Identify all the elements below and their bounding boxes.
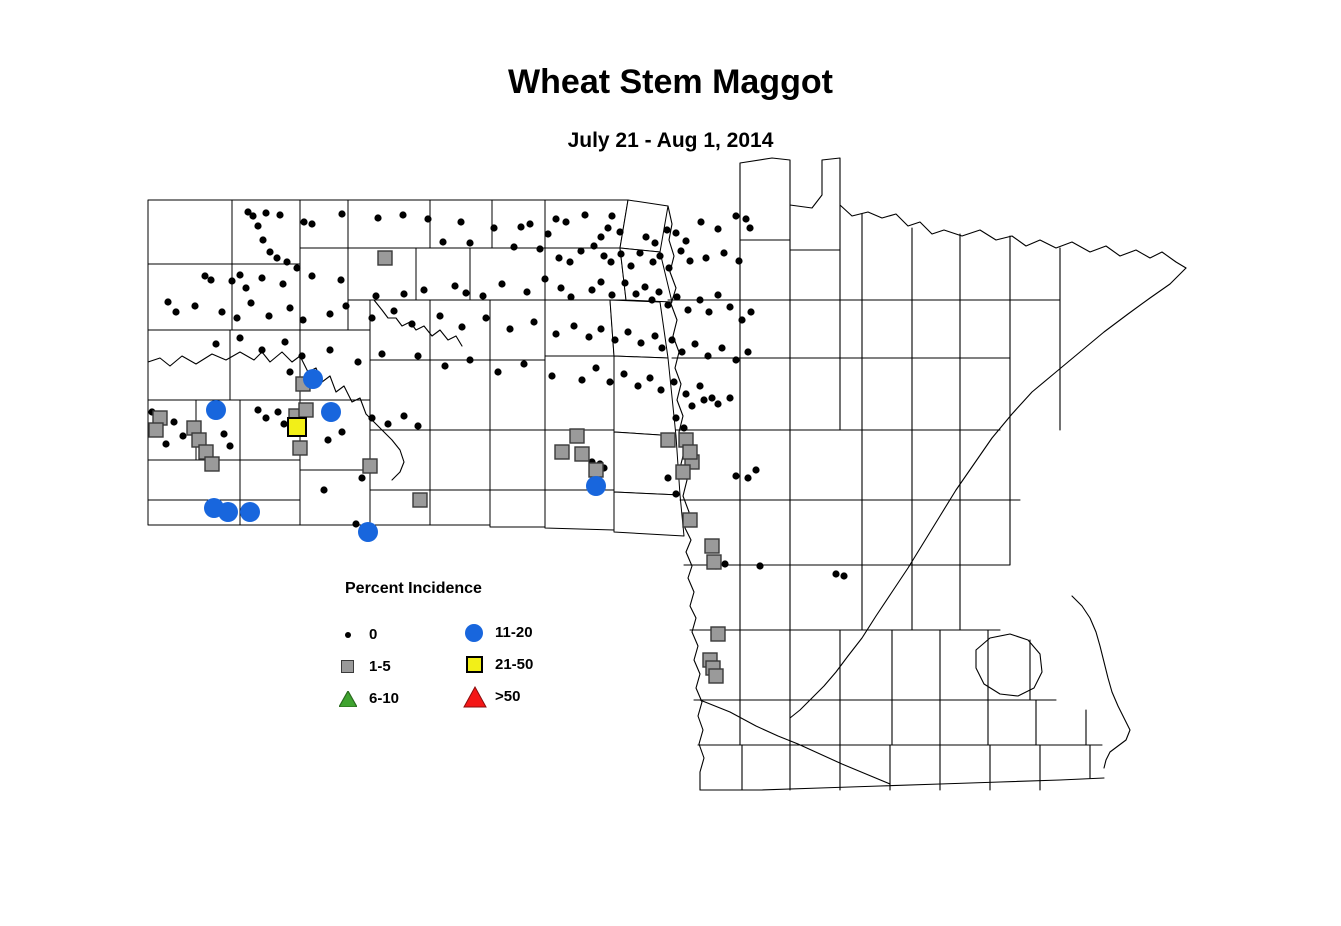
map-symbol-dot-0	[697, 218, 704, 225]
map-symbol-dot-0	[439, 238, 446, 245]
map-symbol-dot-0	[744, 474, 751, 481]
map-symbol-dot-0	[536, 245, 543, 252]
map-symbol-dot-0	[338, 428, 345, 435]
map-symbol-dot-0	[368, 414, 375, 421]
map-symbol-dot-0	[247, 299, 254, 306]
map-symbol-square-1-5	[378, 251, 392, 265]
map-symbol-dot-0	[673, 293, 680, 300]
map-symbol-dot-0	[283, 258, 290, 265]
map-symbol-dot-0	[557, 284, 564, 291]
map-symbol-dot-0	[726, 303, 733, 310]
map-symbol-dot-0	[298, 352, 305, 359]
map-symbol-dot-0	[281, 338, 288, 345]
map-symbol-dot-0	[399, 211, 406, 218]
map-symbol-square-1-5	[661, 433, 675, 447]
map-symbol-dot-0	[457, 218, 464, 225]
map-symbol-square-1-5	[299, 403, 313, 417]
map-symbol-dot-0	[368, 314, 375, 321]
map-symbol-dot-0	[320, 486, 327, 493]
map-symbol-dot-0	[581, 211, 588, 218]
map-symbol-dot-0	[665, 264, 672, 271]
map-symbol-square-1-5	[676, 465, 690, 479]
map-symbol-dot-0	[526, 220, 533, 227]
minnesota-river-line	[700, 700, 890, 784]
map-symbol-dot-0	[254, 222, 261, 229]
map-symbol-circle-11-20	[358, 522, 378, 542]
map-symbol-dot-0	[611, 336, 618, 343]
map-symbol-dot-0	[721, 560, 728, 567]
map-symbol-dot-0	[651, 239, 658, 246]
map-symbol-dot-0	[688, 402, 695, 409]
map-symbol-square-1-5	[555, 445, 569, 459]
map-symbol-dot-0	[608, 291, 615, 298]
map-symbol-dot-0	[604, 224, 611, 231]
map-symbol-dot-0	[597, 278, 604, 285]
map-symbol-dot-0	[408, 320, 415, 327]
map-symbol-dot-0	[414, 422, 421, 429]
map-symbol-dot-0	[718, 344, 725, 351]
map-symbol-dot-0	[249, 212, 256, 219]
map-symbol-dot-0	[691, 340, 698, 347]
map-symbol-dot-0	[162, 440, 169, 447]
map-symbol-dot-0	[555, 254, 562, 261]
map-symbol-dot-0	[170, 418, 177, 425]
map-symbol-dot-0	[451, 282, 458, 289]
map-symbol-dot-0	[684, 306, 691, 313]
map-symbol-dot-0	[462, 289, 469, 296]
map-symbol-dot-0	[704, 352, 711, 359]
map-symbol-dot-0	[510, 243, 517, 250]
map-symbol-dot-0	[686, 257, 693, 264]
map-symbol-dot-0	[672, 490, 679, 497]
map-symbol-dot-0	[714, 291, 721, 298]
map-symbol-dot-0	[680, 424, 687, 431]
map-symbol-dot-0	[354, 358, 361, 365]
map-symbol-dot-0	[400, 290, 407, 297]
legend-label-1-5: 1-5	[369, 658, 391, 675]
map-symbol-dot-0	[466, 356, 473, 363]
map-symbol-square-1-5	[205, 457, 219, 471]
map-page: Wheat Stem Maggot July 21 - Aug 1, 2014	[0, 0, 1341, 926]
map-symbol-ysquare-21-50	[288, 418, 306, 436]
map-symbol-dot-0	[714, 225, 721, 232]
map-symbol-dot-0	[266, 248, 273, 255]
map-symbol-dot-0	[840, 572, 847, 579]
map-symbol-dot-0	[696, 382, 703, 389]
map-symbol-dot-0	[286, 368, 293, 375]
legend-label-11-20: 11-20	[495, 624, 533, 641]
map-symbol-dot-0	[280, 420, 287, 427]
map-symbol-dot-0	[179, 432, 186, 439]
mn-county-lines-row8	[698, 700, 1102, 745]
map-symbol-dot-0	[300, 218, 307, 225]
map-symbol-dot-0	[664, 474, 671, 481]
map-symbol-square-1-5	[589, 463, 603, 477]
map-symbol-dot-0	[646, 374, 653, 381]
map-symbol-square-1-5	[683, 445, 697, 459]
map-symbol-dot-0	[378, 350, 385, 357]
map-symbol-dot-0	[655, 288, 662, 295]
red-triangle-icon	[463, 686, 487, 708]
map-symbol-dot-0	[436, 312, 443, 319]
map-symbol-dot-0	[624, 328, 631, 335]
legend-label-0: 0	[369, 626, 377, 643]
map-symbol-dot-0	[658, 344, 665, 351]
map-symbol-dot-0	[259, 236, 266, 243]
map-symbol-square-1-5	[570, 429, 584, 443]
mn-county-lines-row2	[672, 300, 1060, 430]
map-symbol-dot-0	[242, 284, 249, 291]
map-symbol-dot-0	[746, 224, 753, 231]
map-symbol-dot-0	[832, 570, 839, 577]
map-symbol-dot-0	[498, 280, 505, 287]
map-symbol-dot-0	[616, 228, 623, 235]
map-symbol-dot-0	[678, 348, 685, 355]
map-symbol-dot-0	[592, 364, 599, 371]
map-symbol-dot-0	[258, 346, 265, 353]
map-symbol-dot-0	[420, 286, 427, 293]
map-symbol-dot-0	[585, 333, 592, 340]
map-symbol-dot-0	[636, 249, 643, 256]
map-symbol-dot-0	[714, 400, 721, 407]
mn-county-lines-row4	[680, 430, 1020, 500]
map-symbol-square-1-5	[707, 555, 721, 569]
mn-county-lines-row5	[684, 500, 1010, 565]
map-symbol-circle-11-20	[206, 400, 226, 420]
map-symbol-dot-0	[735, 257, 742, 264]
map-symbol-dot-0	[700, 396, 707, 403]
map-symbol-dot-0	[738, 316, 745, 323]
map-symbol-square-1-5	[711, 627, 725, 641]
northwest-angle	[740, 158, 1186, 268]
map-symbol-dot-0	[191, 302, 198, 309]
map-symbol-dot-0	[172, 308, 179, 315]
map-symbol-dot-0	[634, 382, 641, 389]
map-symbol-dot-0	[726, 394, 733, 401]
map-symbol-dot-0	[293, 264, 300, 271]
map-symbol-dot-0	[732, 356, 739, 363]
map-symbol-dot-0	[236, 334, 243, 341]
map-symbol-dot-0	[642, 233, 649, 240]
map-symbol-dot-0	[664, 301, 671, 308]
map-symbol-dot-0	[374, 214, 381, 221]
map-symbol-dot-0	[732, 212, 739, 219]
map-symbol-dot-0	[424, 215, 431, 222]
mn-county-lines-south	[742, 745, 1090, 790]
map-symbol-dot-0	[670, 378, 677, 385]
map-symbol-dot-0	[597, 233, 604, 240]
mn-interior-lake-outline	[976, 634, 1042, 696]
map-symbol-dot-0	[466, 239, 473, 246]
map-symbol-dot-0	[590, 242, 597, 249]
map-symbol-dot-0	[651, 332, 658, 339]
map-symbol-dot-0	[372, 292, 379, 299]
map-symbol-dot-0	[552, 330, 559, 337]
map-symbol-square-1-5	[709, 669, 723, 683]
map-symbol-dot-0	[677, 247, 684, 254]
map-symbol-dot-0	[274, 408, 281, 415]
map-symbol-dot-0	[337, 276, 344, 283]
map-symbol-dot-0	[299, 316, 306, 323]
map-symbol-square-1-5	[705, 539, 719, 553]
map-symbol-dot-0	[482, 314, 489, 321]
map-symbol-square-1-5	[575, 447, 589, 461]
map-symbol-dot-0	[326, 310, 333, 317]
map-symbol-dot-0	[324, 436, 331, 443]
map-symbol-dot-0	[258, 274, 265, 281]
map-symbol-dot-0	[233, 314, 240, 321]
map-symbol-dot-0	[441, 362, 448, 369]
map-symbol-dot-0	[548, 372, 555, 379]
map-symbol-dot-0	[672, 414, 679, 421]
map-symbol-dot-0	[649, 258, 656, 265]
map-symbol-dot-0	[632, 290, 639, 297]
map-symbol-dot-0	[308, 220, 315, 227]
map-symbol-dot-0	[164, 298, 171, 305]
map-symbol-dot-0	[338, 210, 345, 217]
map-symbol-dot-0	[566, 258, 573, 265]
map-symbol-dot-0	[458, 323, 465, 330]
map-symbol-dot-0	[672, 229, 679, 236]
map-symbol-dot-0	[552, 215, 559, 222]
map-symbol-dot-0	[606, 378, 613, 385]
map-symbol-dot-0	[279, 280, 286, 287]
map-symbol-dot-0	[682, 390, 689, 397]
map-symbol-dot-0	[657, 386, 664, 393]
map-symbol-dot-0	[747, 308, 754, 315]
map-symbol-circle-11-20	[586, 476, 606, 496]
map-symbol-dot-0	[228, 277, 235, 284]
legend: Percent Incidence 0 1-5 6-10 11-20 21-50	[335, 580, 565, 710]
map-symbol-dot-0	[756, 562, 763, 569]
map-symbol-dot-0	[696, 296, 703, 303]
map-symbol-dot-0	[607, 258, 614, 265]
map-symbol-square-1-5	[293, 441, 307, 455]
map-symbol-dot-0	[226, 442, 233, 449]
legend-label-over-50: >50	[495, 688, 520, 705]
map-symbol-dot-0	[201, 272, 208, 279]
mn-county-lines-row7	[694, 630, 1056, 700]
map-symbol-square-1-5	[149, 423, 163, 437]
map-symbol-dot-0	[276, 211, 283, 218]
map-symbol-dot-0	[352, 520, 359, 527]
map-symbol-dot-0	[490, 224, 497, 231]
map-symbol-dot-0	[720, 249, 727, 256]
map-symbol-dot-0	[732, 472, 739, 479]
map-symbol-dot-0	[390, 307, 397, 314]
map-symbol-dot-0	[236, 271, 243, 278]
map-symbol-dot-0	[358, 474, 365, 481]
map-symbol-dot-0	[517, 223, 524, 230]
minnesota-counties	[668, 158, 1186, 790]
map-symbol-dot-0	[702, 254, 709, 261]
map-symbol-dot-0	[506, 325, 513, 332]
map-canvas	[0, 0, 1341, 926]
map-symbol-dot-0	[326, 346, 333, 353]
map-symbol-dot-0	[541, 275, 548, 282]
map-symbol-dot-0	[212, 340, 219, 347]
map-symbol-dot-0	[742, 215, 749, 222]
map-symbol-dot-0	[621, 279, 628, 286]
map-symbol-dot-0	[617, 250, 624, 257]
map-symbol-dot-0	[600, 252, 607, 259]
map-symbol-dot-0	[273, 254, 280, 261]
map-symbol-dot-0	[308, 272, 315, 279]
map-symbol-dot-0	[520, 360, 527, 367]
map-symbol-dot-0	[414, 352, 421, 359]
map-symbol-dot-0	[479, 292, 486, 299]
map-symbol-dot-0	[668, 336, 675, 343]
map-symbol-dot-0	[620, 370, 627, 377]
map-symbol-dot-0	[708, 394, 715, 401]
map-symbol-dot-0	[570, 322, 577, 329]
yellow-square-icon	[463, 654, 487, 676]
small-black-dot-icon	[337, 624, 361, 646]
map-symbol-dot-0	[494, 368, 501, 375]
map-symbol-dot-0	[682, 237, 689, 244]
map-symbol-circle-11-20	[303, 369, 323, 389]
blue-circle-icon	[463, 622, 487, 644]
map-symbol-dot-0	[567, 293, 574, 300]
map-symbol-dot-0	[627, 262, 634, 269]
mn-county-lines-north	[668, 200, 1060, 300]
map-symbol-dot-0	[544, 230, 551, 237]
map-symbol-dot-0	[588, 286, 595, 293]
minnesota-south-border	[700, 778, 1104, 790]
minnesota-east-border	[1072, 596, 1130, 768]
map-symbol-square-1-5	[683, 513, 697, 527]
map-symbol-dot-0	[342, 302, 349, 309]
map-symbol-dot-0	[578, 376, 585, 383]
map-symbol-dot-0	[705, 308, 712, 315]
map-symbol-dot-0	[207, 276, 214, 283]
legend-heading: Percent Incidence	[345, 580, 482, 598]
green-triangle-icon	[337, 688, 361, 710]
map-symbol-dot-0	[608, 212, 615, 219]
map-symbol-dot-0	[262, 414, 269, 421]
map-symbol-dot-0	[523, 288, 530, 295]
map-symbol-dot-0	[262, 209, 269, 216]
map-symbol-dot-0	[663, 226, 670, 233]
map-symbol-dot-0	[656, 252, 663, 259]
map-symbol-dot-0	[530, 318, 537, 325]
map-symbol-circle-11-20	[240, 502, 260, 522]
map-symbol-dot-0	[577, 247, 584, 254]
map-symbol-square-1-5	[363, 459, 377, 473]
legend-label-6-10: 6-10	[369, 690, 399, 707]
map-symbol-circle-11-20	[218, 502, 238, 522]
map-symbol-square-1-5	[413, 493, 427, 507]
map-symbol-dot-0	[597, 325, 604, 332]
mn-county-lines-row3	[676, 358, 1060, 430]
map-symbol-dot-0	[384, 420, 391, 427]
map-symbol-dot-0	[648, 296, 655, 303]
legend-label-21-50: 21-50	[495, 656, 533, 673]
map-svg	[0, 0, 1341, 926]
map-symbol-dot-0	[286, 304, 293, 311]
map-symbol-dot-0	[400, 412, 407, 419]
map-symbol-dot-0	[220, 430, 227, 437]
map-symbol-dot-0	[562, 218, 569, 225]
map-symbol-dot-0	[752, 466, 759, 473]
map-symbol-dot-0	[218, 308, 225, 315]
map-symbol-dot-0	[744, 348, 751, 355]
map-symbol-dot-0	[641, 283, 648, 290]
map-symbol-dot-0	[254, 406, 261, 413]
map-symbol-circle-11-20	[321, 402, 341, 422]
gray-square-icon	[337, 656, 361, 678]
map-symbol-dot-0	[265, 312, 272, 319]
map-symbol-dot-0	[637, 339, 644, 346]
